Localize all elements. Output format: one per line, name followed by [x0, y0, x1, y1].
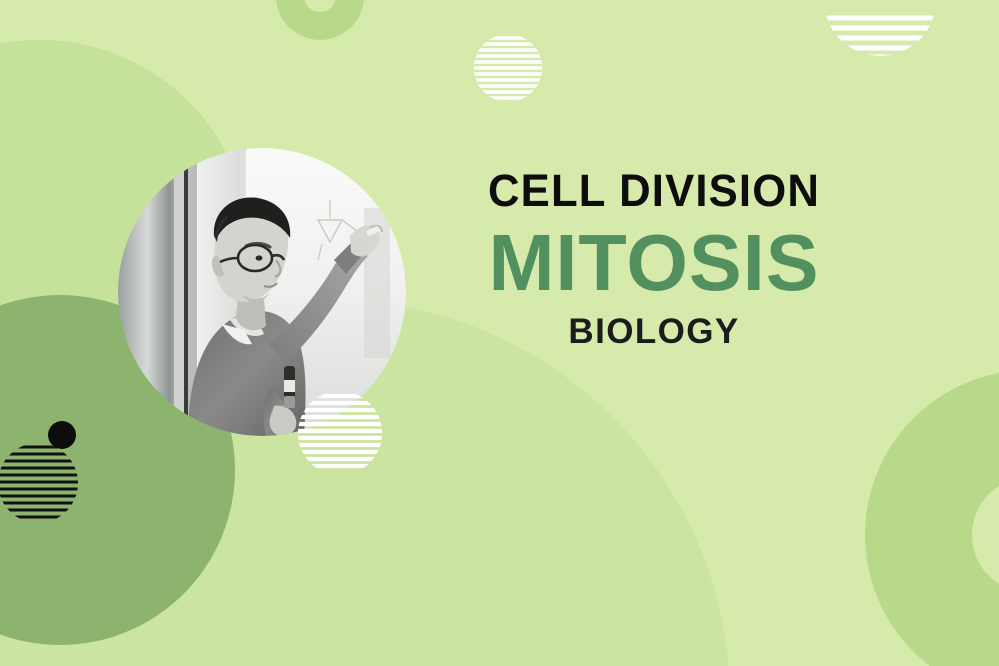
striped-circle-bottom-left — [0, 443, 78, 523]
headline-block: CELL DIVISION MITOSIS BIOLOGY — [415, 168, 893, 351]
page-title-accent: MITOSIS — [417, 221, 890, 304]
page-subtitle: BIOLOGY — [415, 314, 893, 351]
striped-half-circle-top-right — [824, 0, 936, 56]
page-title: CELL DIVISION — [422, 168, 886, 215]
striped-circle-mid-left — [298, 391, 382, 475]
dot-bottom-left — [48, 421, 76, 449]
poster-canvas: CELL DIVISION MITOSIS BIOLOGY — [0, 0, 999, 666]
striped-circle-top-center — [474, 34, 542, 102]
